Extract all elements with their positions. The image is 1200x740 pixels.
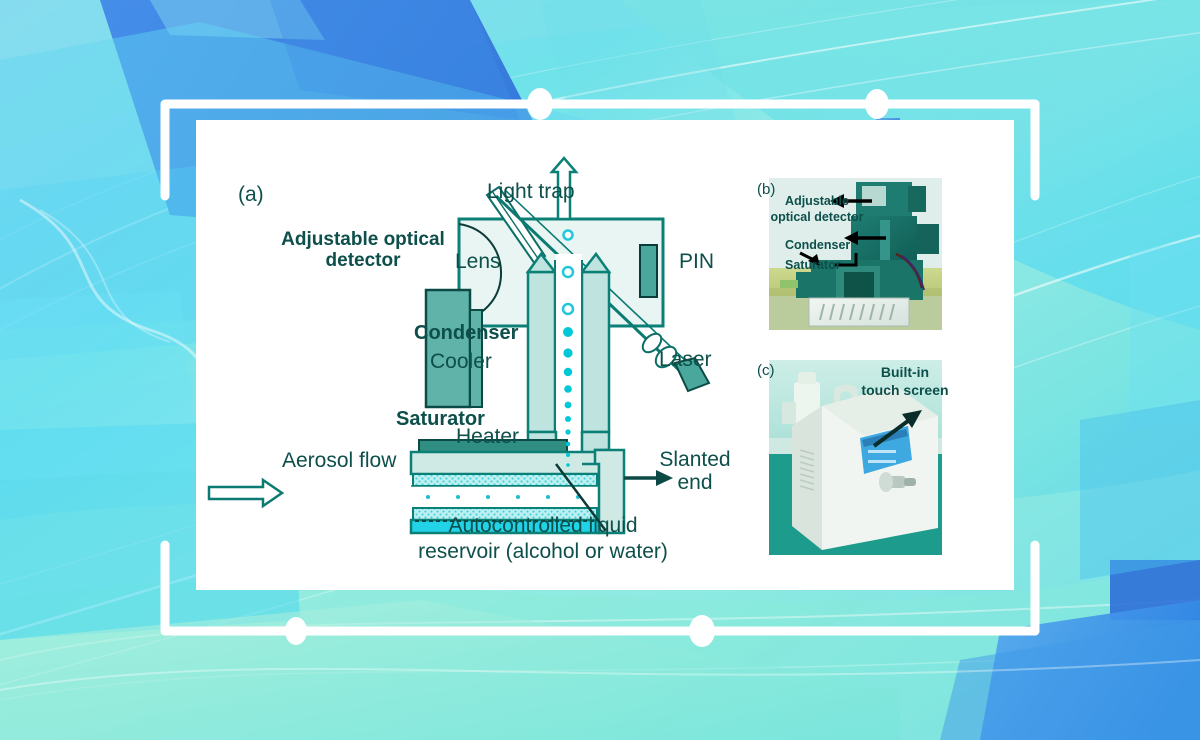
- figure-canvas: (a) Adjustable optical detector Light tr…: [0, 0, 1200, 740]
- panel-b-callout-detector: Adjustable optical detector: [764, 194, 870, 225]
- label-aerosol-flow: Aerosol flow: [282, 449, 396, 472]
- panel-a-schematic: [209, 158, 709, 533]
- panel-b-callout-condenser: Condenser: [785, 239, 850, 253]
- condenser-wall-left: [528, 272, 555, 432]
- label-adjustable-optical-detector: Adjustable optical detector: [268, 230, 458, 272]
- label-heater: Heater: [456, 425, 519, 448]
- label-pin: PIN: [679, 250, 714, 273]
- cooler-block: [426, 290, 470, 407]
- panel-c-callout-touchscreen: Built-in touch screen: [850, 364, 960, 399]
- label-reservoir: Autocontrolled liquid reservoir (alcohol…: [398, 513, 688, 566]
- frame-node-top-left: [527, 88, 553, 120]
- frame-node-top-right: [865, 89, 889, 119]
- frame-node-bottom-left: [285, 617, 307, 645]
- label-lens: Lens: [455, 250, 501, 273]
- label-laser: Laser: [659, 348, 712, 371]
- saturator-channel: [411, 452, 599, 474]
- aerosol-gap: [411, 486, 599, 508]
- panel-c-tag: (c): [757, 363, 775, 380]
- aerosol-flow-arrow: [209, 480, 282, 506]
- label-cooler: Cooler: [430, 350, 492, 373]
- panel-a-tag: (a): [238, 183, 264, 206]
- panel-b-callout-saturator: Saturator: [785, 259, 841, 273]
- frame-node-bottom-right: [689, 615, 715, 647]
- label-light-trap: Light trap: [487, 180, 575, 203]
- pin-detector-block: [640, 245, 657, 297]
- label-condenser: Condenser: [414, 322, 518, 344]
- condenser-wall-right: [582, 272, 609, 432]
- label-slanted-end: Slanted end: [653, 448, 737, 494]
